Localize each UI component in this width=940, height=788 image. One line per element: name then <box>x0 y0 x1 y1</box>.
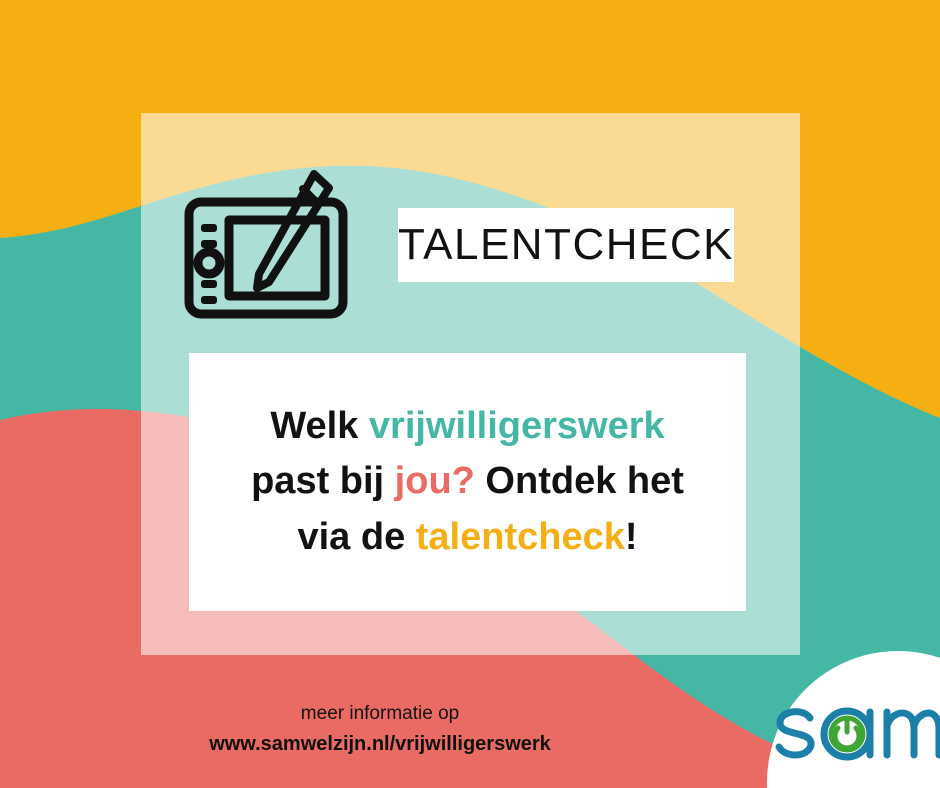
drawing-tablet-stylus-icon <box>183 168 353 320</box>
message-line-2: past bij jou? Ontdek het <box>251 454 684 509</box>
talentcheck-title-box: TALENTCHECK <box>398 208 734 282</box>
footer-info-label: meer informatie op <box>0 700 760 729</box>
message-keyword-talentcheck: talentcheck <box>416 516 625 558</box>
message-line-2-part-3: Ontdek het <box>475 460 684 502</box>
message-line-3-part-3: ! <box>625 516 638 558</box>
footer-url[interactable]: www.samwelzijn.nl/vrijwilligerswerk <box>0 729 760 759</box>
sam-logo[interactable] <box>766 646 940 788</box>
message-line-2-part-1: past bij <box>251 460 395 502</box>
page-title: TALENTCHECK <box>398 223 734 267</box>
footer: meer informatie op www.samwelzijn.nl/vri… <box>0 700 760 759</box>
message-line-1-part-1: Welk <box>270 405 369 447</box>
message-keyword-vrijwilligerswerk: vrijwilligerswerk <box>369 405 665 447</box>
message-line-1: Welk vrijwilligerswerk <box>270 399 664 454</box>
message-keyword-jou: jou? <box>395 460 475 502</box>
message-line-3: via de talentcheck! <box>297 510 637 565</box>
poster-canvas: TALENTCHECK Welk vrijwilligerswerk past … <box>0 0 940 788</box>
message-card: Welk vrijwilligerswerk past bij jou? Ont… <box>189 353 746 611</box>
message-line-3-part-1: via de <box>297 516 415 558</box>
